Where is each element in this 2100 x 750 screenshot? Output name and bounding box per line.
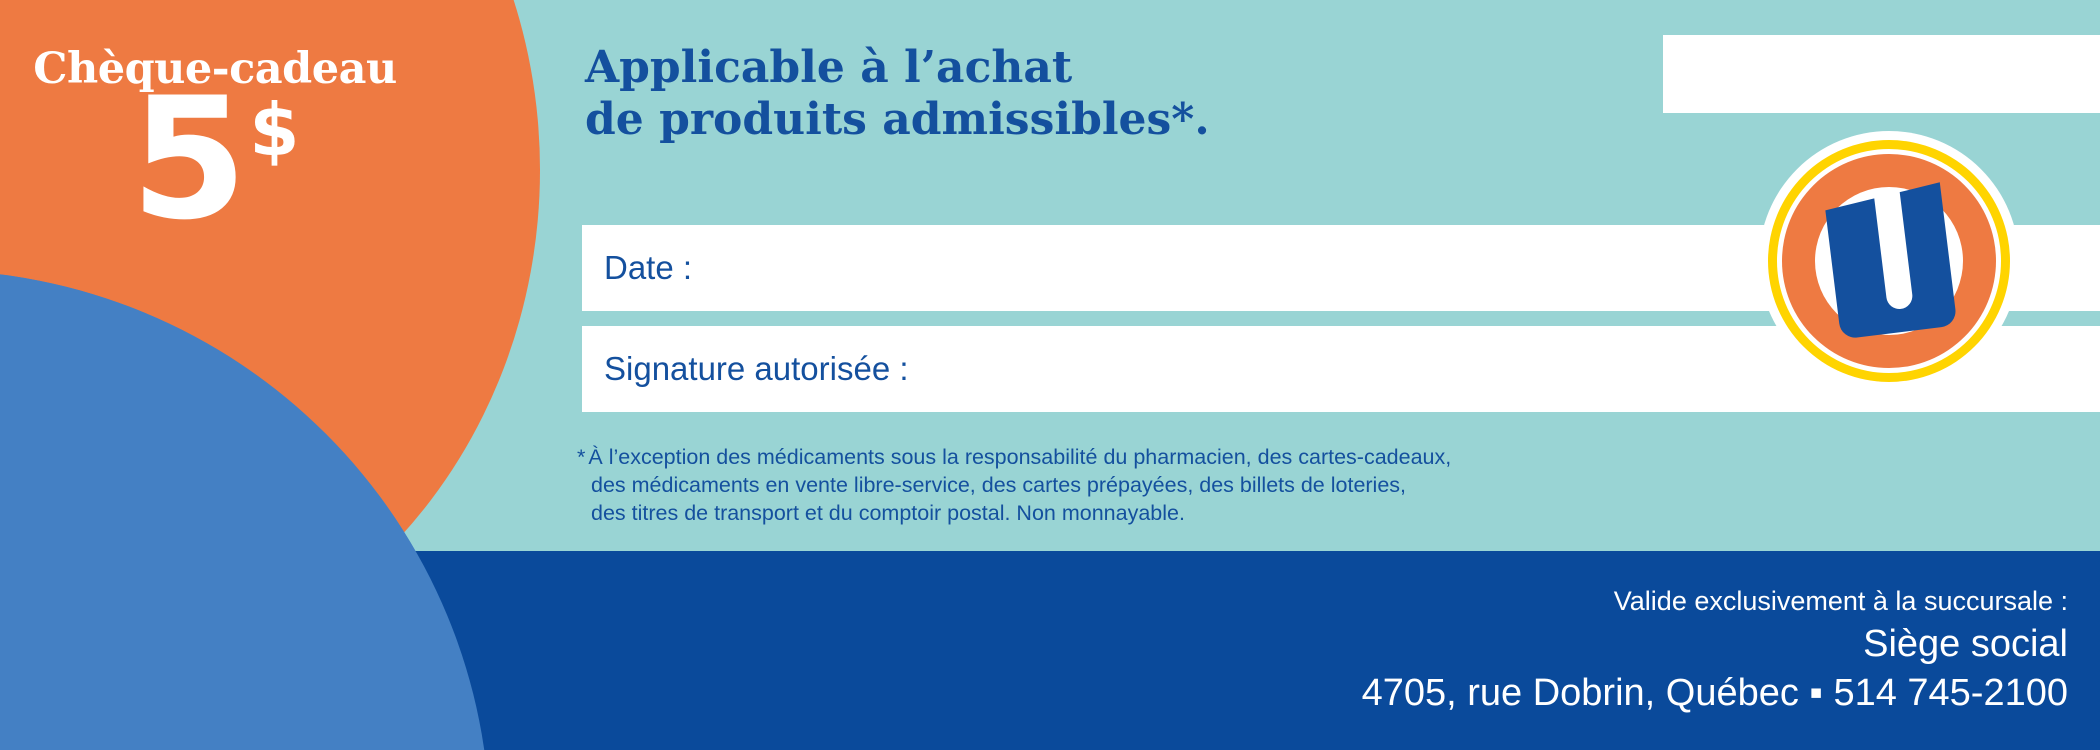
amount-row: 5 $	[0, 80, 430, 240]
branch-address: 4705, rue Dobrin, Québec ▪ 514 745-2100	[1362, 670, 2068, 718]
headline: Applicable à l’achat de produits admissi…	[585, 42, 1535, 146]
currency-symbol: $	[249, 94, 299, 166]
disclaimer-line-2: des médicaments en vente libre-service, …	[591, 472, 1697, 500]
date-label: Date :	[604, 249, 692, 287]
valid-label: Valide exclusivement à la succursale :	[1362, 585, 2068, 619]
disclaimer-line-3: des titres de transport et du comptoir p…	[591, 500, 1697, 528]
headline-line-2: de produits admissibles*.	[585, 94, 1535, 146]
asterisk-marker: *	[577, 445, 585, 469]
uniprix-logo-icon	[1759, 131, 2019, 391]
signature-label: Signature autorisée :	[604, 350, 909, 388]
disclaimer-text-1: À l’exception des médicaments sous la re…	[588, 445, 1451, 469]
code-box[interactable]	[1663, 35, 2100, 113]
branch-info: Valide exclusivement à la succursale : S…	[1362, 585, 2068, 718]
left-panel: Chèque-cadeau 5 $	[0, 0, 430, 330]
headline-line-1: Applicable à l’achat	[585, 42, 1535, 94]
gift-certificate: Chèque-cadeau 5 $ Applicable à l’achat d…	[0, 0, 2100, 750]
disclaimer-line-1: *À l’exception des médicaments sous la r…	[577, 444, 1697, 472]
disclaimer: *À l’exception des médicaments sous la r…	[577, 444, 1697, 528]
branch-name: Siège social	[1362, 621, 2068, 669]
amount-value: 5	[130, 80, 243, 240]
